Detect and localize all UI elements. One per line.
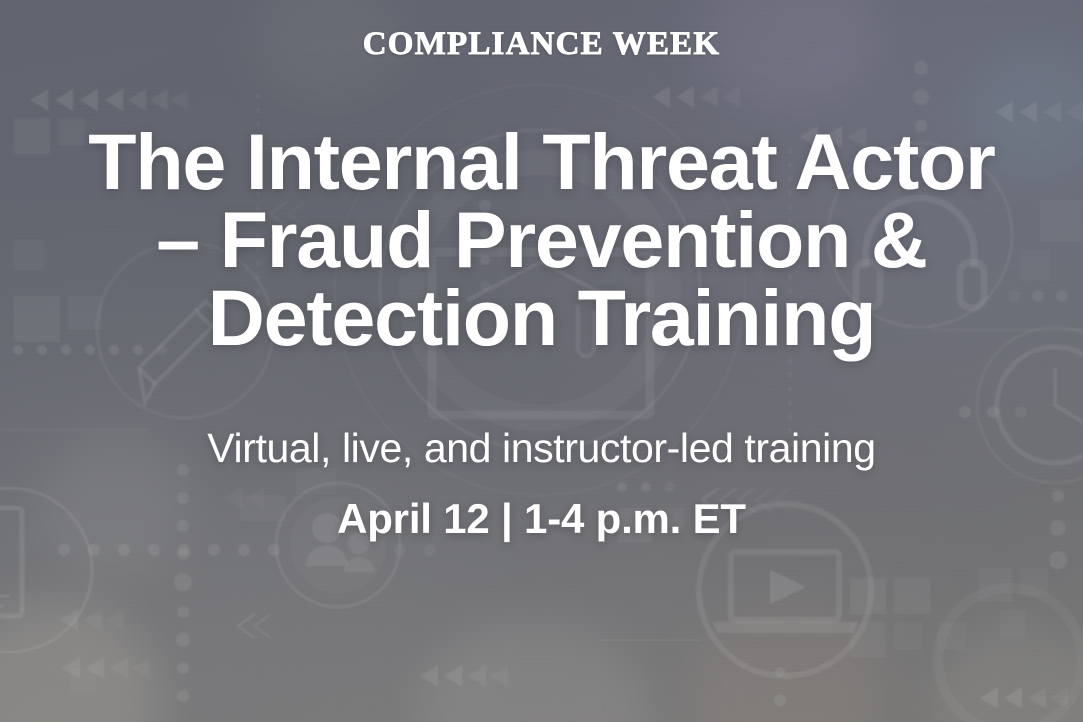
- page-title: The Internal Threat Actor – Fraud Preven…: [27, 123, 1057, 356]
- compliance-week-logo: COMPLIANCE WEEK: [363, 28, 721, 61]
- headline-line-1: The Internal Threat Actor: [27, 123, 1057, 201]
- event-date-time: April 12 | 1-4 p.m. ET: [337, 496, 746, 542]
- headline-line-2: – Fraud Prevention &: [27, 201, 1057, 279]
- event-format-subtitle: Virtual, live, and instructor-led traini…: [207, 426, 875, 471]
- banner-content: COMPLIANCE WEEK The Internal Threat Acto…: [0, 0, 1083, 722]
- headline-line-3: Detection Training: [27, 279, 1057, 357]
- webinar-promo-banner: COMPLIANCE WEEK The Internal Threat Acto…: [0, 0, 1083, 722]
